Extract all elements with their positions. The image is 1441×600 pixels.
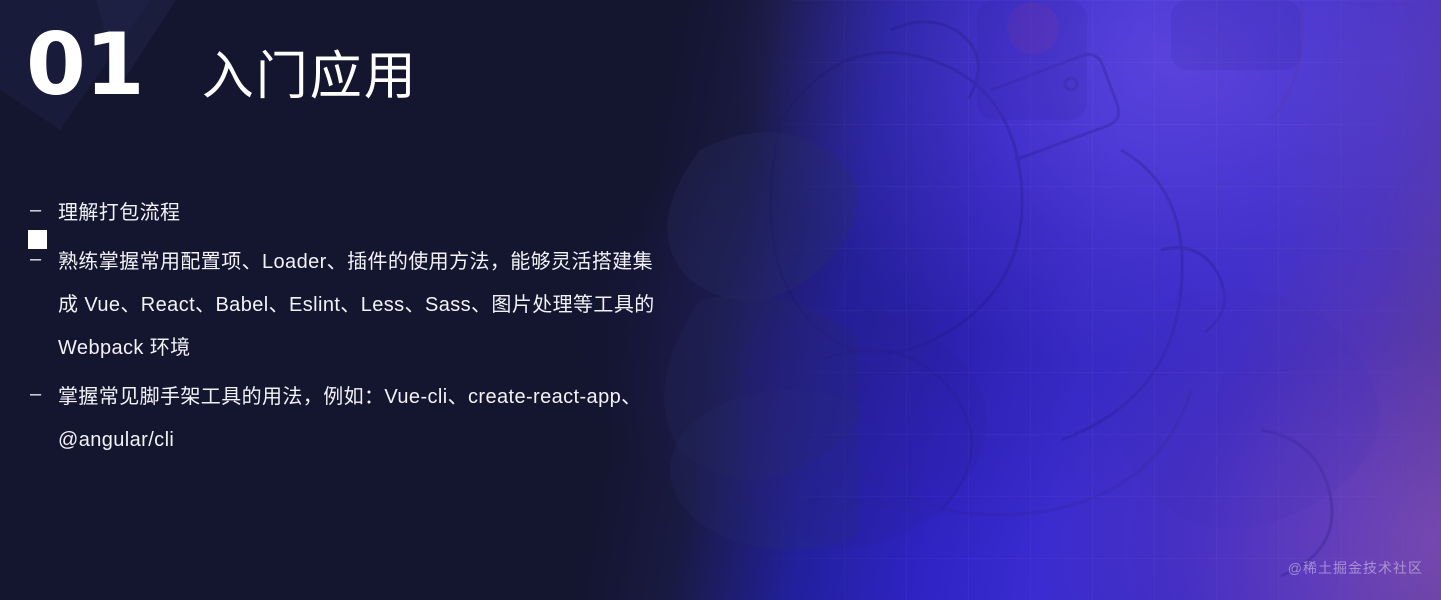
list-item-label: 熟练掌握常用配置项、Loader、插件的使用方法，能够灵活搭建集成 Vue、Re… <box>58 241 670 370</box>
section-title-one: 入门应用 <box>202 51 418 103</box>
column-left: 01 入门应用 – 理解打包流程 – 熟练掌握常用配置项、Loader、插件的使… <box>0 0 720 600</box>
slide-canvas: 01 入门应用 – 理解打包流程 – 熟练掌握常用配置项、Loader、插件的使… <box>0 0 1441 600</box>
list-item-label: 理解打包流程 <box>58 192 670 235</box>
bullet-list-one: – 理解打包流程 – 熟练掌握常用配置项、Loader、插件的使用方法，能够灵活… <box>30 192 670 468</box>
column-right: 02. 进阶 – 理解 Loader、Plugin 机制，能够自行开发 Webp… <box>720 0 1441 600</box>
bullet-dash-icon: – <box>30 376 58 412</box>
watermark-label: @稀土掘金技术社区 <box>1288 558 1423 578</box>
bullet-dash-icon: – <box>30 192 58 228</box>
white-square-marker-left <box>28 230 47 249</box>
section-number-one: 01 <box>26 22 144 108</box>
list-item: – 熟练掌握常用配置项、Loader、插件的使用方法，能够灵活搭建集成 Vue、… <box>30 241 670 370</box>
section-heading-one: 01 入门应用 <box>26 22 418 108</box>
list-item: – 掌握常见脚手架工具的用法，例如：Vue-cli、create-react-a… <box>30 376 670 462</box>
slide-content: 01 入门应用 – 理解打包流程 – 熟练掌握常用配置项、Loader、插件的使… <box>0 0 1441 600</box>
list-item-label: 掌握常见脚手架工具的用法，例如：Vue-cli、create-react-app… <box>58 376 670 462</box>
list-item: – 理解打包流程 <box>30 192 670 235</box>
